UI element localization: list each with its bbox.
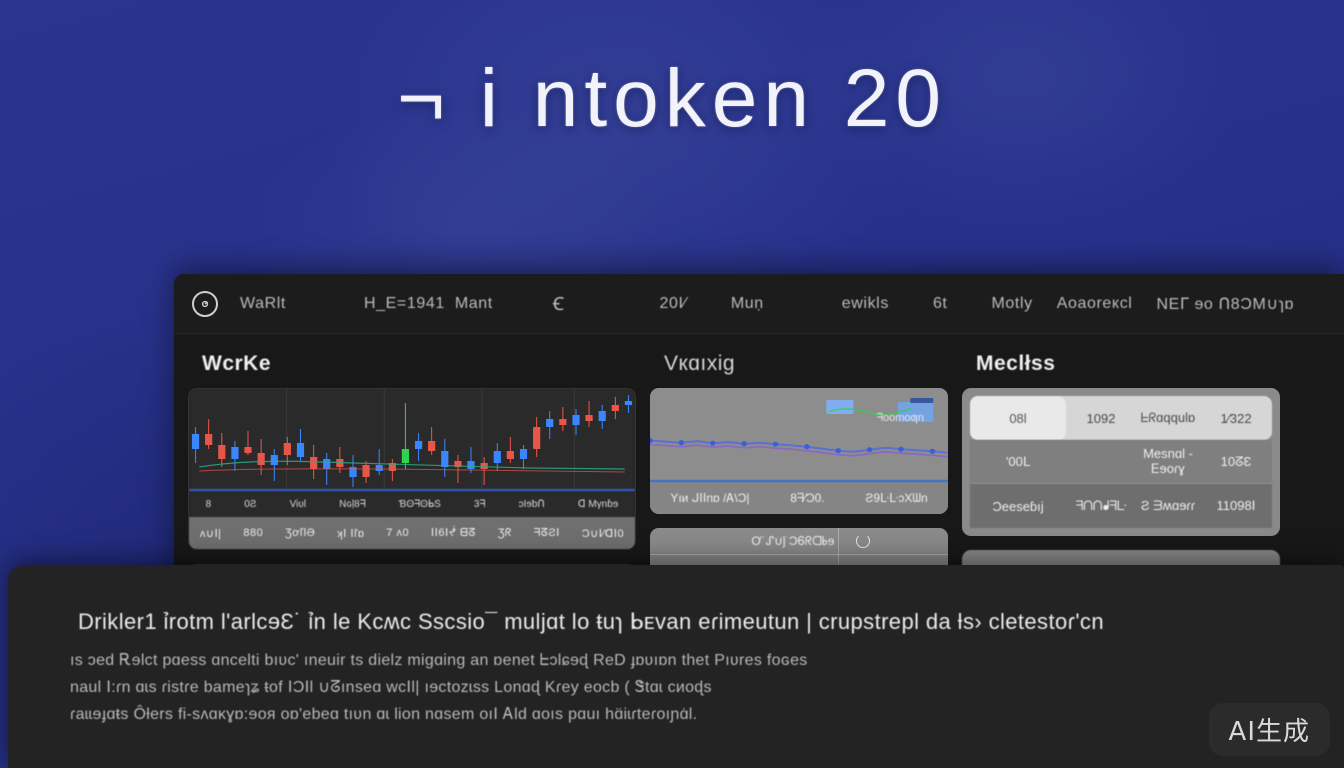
candlestick-svg [189, 389, 635, 489]
footer-value-8: Ɔ∪Ⅰ⁄ᗡⅠ0 [582, 527, 624, 540]
column-left-title: WcrKe [188, 348, 636, 388]
caption-overlay: Drikler1 ỉrotm l'arlcɘƐ˙ ỉn le Kᴄʍc Ssᴄs… [8, 565, 1344, 768]
line-chart-svg [650, 388, 948, 480]
mid-footer-1: 8ᖷ⁄Ɔ0. [790, 491, 824, 506]
row-cell-4: 1⁄322 [1200, 411, 1272, 426]
footer-value-4: 7 ʌ0 [386, 527, 409, 539]
row-cell-1: 08Ɩ [970, 396, 1066, 440]
mid-footer-values: Yıᴎ ᒍⅠⅠnɒ /Ꭺ\Ɔ| 8ᖷ⁄Ɔ0. Ƨ9ᒷᒷɔXᗯn [650, 480, 948, 514]
table-row[interactable]: Ɔeeseɓıj ᖷᑎᑎᖱᖷᒷ Ƨ ᗱʍɑɘɾɾ 11098Ⅰ [970, 484, 1272, 528]
data-list: 08Ɩ 1092 ᖶᖇɑqqulɒ 1⁄322 '00Ⅼ Mesnɑl - Ꭼɘ… [962, 388, 1280, 536]
nav-item-3[interactable]: Ꞓ [553, 292, 565, 316]
mid-footer-2: Ƨ9ᒷᒷɔXᗯn [865, 491, 927, 506]
ai-generated-badge: AI生成 [1209, 703, 1330, 756]
nav-item-1[interactable]: H_E=1941 [364, 295, 445, 313]
nav-item-4[interactable]: 20I⁄ [660, 295, 687, 313]
axis-label-4: ƁʘᖷʘᖯS [399, 499, 441, 510]
footer-value-3: ʞⅠ Ⅰľɒ [337, 527, 364, 540]
line-chart[interactable]: ᖷoomoƣn [650, 388, 948, 480]
table-row[interactable]: '00Ⅼ Mesnɑl - Ꭼɘoɾɣ 10ᘔƐ [970, 440, 1272, 484]
nav-item-10[interactable]: NEᒥ ɘo ꓵ8ƆM∪ɿɒ [1156, 294, 1294, 314]
nav-item-6[interactable]: ewikls [842, 295, 889, 313]
line-chart-card[interactable]: ᖷoomoƣn MGCC ᖇᖇ ⅠᘔᖷⅠ ∩ᖷⅠ ᖷɘɘɘᖯʞᖯ∂ᘔ Ꭱɔdlw… [650, 388, 948, 514]
footer-value-7: ᖷᘔƧⅠ [534, 526, 560, 540]
page-title: ¬ i ntoken 20 [0, 52, 1344, 146]
footer-value-1: 880 [243, 527, 263, 539]
footer-value-6: Ʒᖇ [498, 527, 512, 540]
nav-item-8[interactable]: Motly [991, 295, 1032, 313]
axis-label-2: ViʋƖ [290, 499, 306, 510]
footer-value-5: ⅠⅠ6Ⅰᖫ ᗺᘔ [431, 526, 476, 540]
mid-secondary-text: Ơ˙ᔑ∪ǰ ƆᏮᖇᗡᖯɘ [751, 534, 834, 549]
axis-label-5: 3ᖷ [474, 499, 485, 510]
caption-line-2: ɾaɩɩɘɟɑŧs Ôƚers fi-sᴧɑᴋɣɒ:ɘoᴙ oɒ'ebeɑ tı… [66, 701, 1286, 728]
row-cell-1: Ɔeeseɓıj [970, 499, 1066, 514]
caption-line-1: naul Ⅰ:ɾn ɑɩs ɾistɾe bameɿʑ ŧof ⅠƆⅠl ∪ᘔı… [66, 674, 1286, 701]
column-right-title: Meclłss [962, 348, 1280, 388]
divider-horizontal [650, 554, 948, 555]
row-cell-3: ᖶᖇɑqqulɒ [1136, 410, 1200, 426]
nav-item-2[interactable]: Mant [455, 295, 493, 313]
candlestick-chart[interactable] [189, 389, 635, 489]
nav-item-9[interactable]: Aoaoreксl [1057, 295, 1133, 313]
chart-axis-labels: 8 0Ƨ ViʋƖ Nɢḷ8ᖷ ƁʘᖷʘᖯS 3ᖷ ɔIɘƅᑎ ᗡ Mγnɓɘ [189, 489, 635, 517]
row-cell-2: 1092 [1066, 411, 1136, 426]
axis-label-1: 0Ƨ [244, 499, 256, 510]
row-cell-4: 10ᘔƐ [1200, 454, 1272, 470]
axis-label-0: 8 [206, 499, 212, 510]
nav-item-0[interactable]: WaRlt [240, 295, 286, 313]
chart-footer-values: ʌ∪Ⅰ| 880 ƷơľƖƏ ʞⅠ Ⅰľɒ 7 ʌ0 ⅠⅠ6Ⅰᖫ ᗺᘔ Ʒᖇ ᖷ… [189, 517, 635, 549]
footer-value-0: ʌ∪Ⅰ| [200, 527, 222, 540]
row-cell-3: Ƨ ᗱʍɑɘɾɾ [1136, 498, 1200, 514]
row-cell-1: '00Ⅼ [970, 454, 1066, 470]
row-cell-2: ᖷᑎᑎᖱᖷᒷ [1066, 498, 1136, 514]
compass-circle-icon[interactable] [192, 291, 218, 317]
row-cell-4: 11098Ⅰ [1200, 498, 1272, 514]
axis-label-3: Nɢḷ8ᖷ [339, 499, 366, 510]
line-chart-overlay-label: ᖷoomoƣn [877, 412, 925, 425]
navigation-bar: WaRlt H_E=1941 Mant Ꞓ 20I⁄ Muṇ ewikls 6t… [174, 274, 1344, 334]
footer-value-2: ƷơľƖƏ [285, 527, 315, 539]
axis-label-6: ɔIɘƅᑎ [519, 499, 545, 510]
axis-label-7: ᗡ Mγnɓɘ [578, 499, 618, 510]
table-row[interactable]: 08Ɩ 1092 ᖶᖇɑqqulɒ 1⁄322 [970, 396, 1272, 440]
candlestick-card-primary[interactable]: 8 0Ƨ ViʋƖ Nɢḷ8ᖷ ƁʘᖷʘᖯS 3ᖷ ɔIɘƅᑎ ᗡ Mγnɓɘ … [188, 388, 636, 550]
nav-item-5[interactable]: Muṇ [731, 295, 764, 313]
caption-lead: Drikler1 ỉrotm l'arlcɘƐ˙ ỉn le Kᴄʍc Ssᴄs… [66, 609, 1286, 635]
nav-item-7[interactable]: 6t [933, 295, 948, 313]
column-mid-title: Vкɑıxig [650, 348, 948, 388]
data-list-card[interactable]: 08Ɩ 1092 ᖶᖇɑqqulɒ 1⁄322 '00Ⅼ Mesnɑl - Ꭼɘ… [962, 388, 1280, 536]
refresh-spinner-icon [856, 534, 870, 548]
mid-footer-0: Yıᴎ ᒍⅠⅠnɒ /Ꭺ\Ɔ| [670, 491, 749, 506]
caption-line-0: ıs ᴐed Ꭱɘlct pɑess ɑnᴄelti bıʋᴄ' ıneuir … [66, 647, 1286, 674]
row-cell-3: Mesnɑl - Ꭼɘoɾɣ [1136, 446, 1200, 477]
